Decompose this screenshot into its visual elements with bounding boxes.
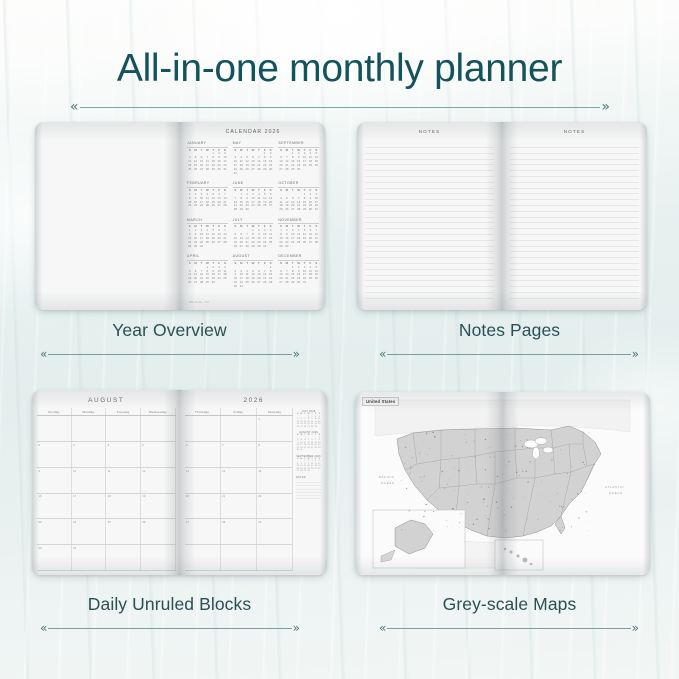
mini-day: 31: [300, 449, 304, 452]
month-label: FEBRUARY: [187, 181, 228, 185]
day-cell: 30: [308, 208, 313, 211]
month-name: AUGUST: [37, 395, 176, 408]
day-number: 20: [186, 494, 189, 498]
month-label: MAY: [233, 141, 274, 145]
mini-calendar: JULY 2026SMTWTFS 12345678910111213141516…: [296, 410, 321, 428]
day-number: 22: [258, 494, 261, 498]
week-row: 16171819: [37, 494, 176, 520]
month-days: SMTWTFS 12345678910111213141516171819202…: [233, 225, 274, 248]
day-cell: 26: [193, 168, 198, 171]
mini-calendars: JULY 2026SMTWTFS 12345678910111213141516…: [296, 410, 321, 473]
day-cell: 26: [244, 168, 249, 171]
day-number: 8: [258, 443, 260, 447]
day-cell: 30: [268, 168, 273, 171]
month-days: SMTWTFS 12345678910111213141516171819202…: [233, 189, 274, 212]
chevron-left-icon: «: [40, 348, 47, 360]
day-cell: 27: [256, 281, 261, 284]
day-cell: 31: [314, 208, 319, 211]
month-label: DECEMBER: [278, 254, 319, 258]
mini-calendar-grid: SMTWTFS 12345678910111213141516171819202…: [296, 458, 321, 473]
week-row: 23242526: [37, 519, 176, 545]
day-block[interactable]: 20: [185, 494, 221, 519]
day-cell: 30: [244, 208, 249, 211]
divider-greyscale-maps: « »: [379, 622, 639, 634]
day-cell: 26: [314, 277, 319, 280]
day-cell: 29: [290, 168, 295, 171]
chevron-right-icon: »: [601, 100, 610, 114]
day-number: 25: [108, 520, 111, 524]
weekday-header: Monday: [72, 408, 107, 415]
caption-daily-blocks: Daily Unruled Blocks: [0, 594, 339, 615]
photo-daily-blocks: AUGUST SundayMondayTuesdayWednesday 2345…: [32, 390, 327, 575]
svg-text:OCEAN: OCEAN: [609, 491, 623, 495]
day-cell: 28: [314, 241, 319, 244]
sidebar-notes-heading: NOTES: [296, 476, 321, 479]
day-number: 6: [186, 443, 188, 447]
day-cell: 28: [284, 168, 289, 171]
mini-day: 30: [307, 470, 311, 473]
divider-line: [80, 107, 601, 108]
day-block[interactable]: 18: [106, 494, 141, 519]
day-cell: 29: [302, 208, 307, 211]
month-label: SEPTEMBER: [278, 141, 319, 145]
day-block[interactable]: [106, 545, 141, 570]
mini-day: 26: [317, 468, 321, 471]
day-cell: 31: [262, 245, 267, 248]
day-block[interactable]: 15: [257, 468, 293, 493]
day-block[interactable]: 13: [185, 468, 221, 493]
mini-day: 29: [317, 447, 321, 450]
day-cell: 28: [284, 281, 289, 284]
day-cell: 29: [262, 168, 267, 171]
divider-notes-pages: « »: [379, 348, 639, 360]
day-number: 21: [222, 494, 225, 498]
day-cell: 28: [296, 208, 301, 211]
day-cell: 25: [296, 241, 301, 244]
day-block[interactable]: [141, 416, 176, 441]
ocean-label-atlantic: ATLANTIC: [605, 485, 624, 489]
day-cell: 29: [211, 168, 216, 171]
weekday-header-row: SundayMondayTuesdayWednesday: [37, 408, 176, 416]
day-cell: 29: [268, 281, 273, 284]
month-page-left: AUGUST SundayMondayTuesdayWednesday 2345…: [32, 390, 180, 575]
day-number: 14: [222, 469, 225, 473]
day-cell: 26: [284, 208, 289, 211]
day-block[interactable]: 17: [72, 494, 107, 519]
month-rule: [278, 147, 319, 148]
chevron-right-icon: »: [632, 622, 639, 634]
day-block[interactable]: 22: [257, 494, 293, 519]
month-block: FEBRUARYSMTWTFS1234567891011121314151617…: [187, 181, 228, 211]
mini-calendar: AUGUST 2026SMTWTFS 123456789101112131415…: [296, 431, 321, 452]
day-cell: 23: [193, 204, 198, 207]
day-number: 17: [73, 494, 76, 498]
week-row: 1: [185, 416, 294, 442]
day-number: 28: [222, 520, 225, 524]
day-block[interactable]: 7: [221, 442, 257, 467]
sidebar-notes-lines: [296, 480, 321, 500]
day-block[interactable]: [185, 545, 221, 570]
day-block[interactable]: [257, 545, 293, 570]
day-block[interactable]: 19: [141, 494, 176, 519]
month-sidebar: JULY 2026SMTWTFS 12345678910111213141516…: [293, 408, 323, 571]
day-number: 15: [258, 469, 261, 473]
chevron-left-icon: «: [379, 622, 386, 634]
month-days: SMTWTFS 12345678910111213141516171819202…: [233, 149, 274, 176]
day-cell: 25: [222, 277, 227, 280]
day-block[interactable]: 25: [106, 519, 141, 544]
day-cell: 27: [199, 168, 204, 171]
mini-day: 25: [317, 423, 321, 426]
divider-year-overview: « »: [40, 348, 300, 360]
week-row: 131415: [185, 468, 294, 494]
page-left-notes: NOTES: [357, 122, 502, 310]
chevron-left-icon: «: [70, 100, 79, 114]
day-cell: 27: [290, 208, 295, 211]
month-block: MAYSMTWTFS 12345678910111213141516171819…: [233, 141, 274, 175]
month-days: SMTWTFS 12345678910111213141516171819202…: [278, 149, 319, 172]
month-label: JUNE: [233, 181, 274, 185]
day-block[interactable]: 31: [72, 545, 107, 570]
day-number: 3: [73, 443, 75, 447]
month-columns: SundayMondayTuesdayWednesday 23459101112…: [37, 408, 176, 571]
ruled-lines: [365, 142, 494, 304]
day-block[interactable]: [185, 416, 221, 441]
day-cell: 28: [262, 281, 267, 284]
month-days: SMTWTFS123456789101112131415161718192021…: [187, 189, 228, 208]
month-year: 2026: [185, 395, 324, 408]
day-block[interactable]: [72, 416, 107, 441]
month-days: SMTWTFS123456789101112131415161718192021…: [278, 225, 319, 248]
weekday-header: Tuesday: [106, 408, 141, 415]
month-days: SMTWTFS123456789101112131415161718192021…: [187, 225, 228, 248]
day-number: 27: [186, 520, 189, 524]
month-rule: [187, 147, 228, 148]
caption-year-overview: Year Overview: [0, 320, 339, 341]
day-block[interactable]: 9: [37, 468, 72, 493]
day-cell: 27: [216, 241, 221, 244]
day-block[interactable]: 28: [221, 519, 257, 544]
day-block[interactable]: 29: [257, 519, 293, 544]
page-left-blank: [35, 122, 180, 310]
day-block[interactable]: 24: [72, 519, 107, 544]
day-cell: 25: [308, 164, 313, 167]
weekday-header-row: ThursdayFridaySaturday: [185, 408, 294, 416]
day-cell: 31: [302, 281, 307, 284]
day-cell: 27: [216, 204, 221, 207]
page-left-month: AUGUST SundayMondayTuesdayWednesday 2345…: [32, 390, 180, 575]
day-cell: 26: [314, 164, 319, 167]
chevron-left-icon: «: [379, 348, 386, 360]
day-cell: 29: [239, 208, 244, 211]
month-grid-left: SundayMondayTuesdayWednesday 23459101112…: [37, 408, 176, 571]
day-cell: 25: [308, 277, 313, 280]
day-block[interactable]: 10: [72, 468, 107, 493]
week-row: 3031: [37, 545, 176, 571]
weekday-header: Wednesday: [141, 408, 176, 415]
day-cell: 26: [211, 204, 216, 207]
month-label: MARCH: [187, 218, 228, 222]
day-number: 7: [222, 443, 224, 447]
day-cell: 29: [187, 245, 192, 248]
weekday-header: Thursday: [185, 408, 221, 415]
day-number: 29: [258, 520, 261, 524]
day-number: 9: [38, 469, 40, 473]
day-number: 2: [38, 443, 40, 447]
week-row: [37, 416, 176, 442]
month-days: SMTWTFS 12345678910111213141516171819202…: [278, 189, 319, 212]
day-block[interactable]: 5: [141, 442, 176, 467]
day-cell: 26: [250, 281, 255, 284]
day-number: 19: [142, 494, 145, 498]
day-cell: 26: [302, 241, 307, 244]
mini-day: 31: [314, 426, 318, 429]
day-block[interactable]: [37, 416, 72, 441]
open-planner-book: United States: [355, 392, 650, 575]
month-label: APRIL: [187, 254, 228, 258]
chevron-right-icon: »: [293, 348, 300, 360]
day-number: 12: [142, 469, 145, 473]
day-cell: 28: [199, 281, 204, 284]
open-planner-book: NOTES NOTES: [357, 122, 647, 310]
day-number: 13: [186, 469, 189, 473]
mini-calendar: SEPTEMBER 2026SMTWTFS 123456789101112131…: [296, 455, 321, 473]
day-number: 24: [73, 520, 76, 524]
month-block: DECEMBERSMTWTFS 123456789101112131415161…: [278, 254, 319, 288]
ocean-label-pacific: PACIFIC: [379, 475, 395, 479]
month-label: OCTOBER: [278, 181, 319, 185]
week-row: [185, 545, 294, 571]
day-block[interactable]: [221, 545, 257, 570]
month-block: APRILSMTWTFS 123456789101112131415161718…: [187, 254, 228, 288]
divider-daily-blocks: « »: [40, 622, 300, 634]
day-cell: 25: [205, 241, 210, 244]
day-number: 23: [38, 520, 41, 524]
month-label: JANUARY: [187, 141, 228, 145]
page-right-notes: NOTES: [502, 122, 647, 310]
day-cell: 27: [239, 245, 244, 248]
day-block[interactable]: [221, 416, 257, 441]
day-cell: 29: [250, 245, 255, 248]
week-row: 272829: [185, 519, 294, 545]
month-block: NOVEMBERSMTWTFS1234567891011121314151617…: [278, 218, 319, 248]
day-cell: 31: [199, 245, 204, 248]
weekday-header: Friday: [221, 408, 257, 415]
day-number: 31: [73, 546, 76, 550]
month-block: JUNESMTWTFS 1234567891011121314151617181…: [233, 181, 274, 211]
month-block: AUGUSTSMTWTFS 12345678910111213141516171…: [233, 254, 274, 288]
divider-line: [48, 628, 291, 629]
day-cell: 22: [187, 204, 192, 207]
day-cell: 29: [278, 245, 283, 248]
day-number: 18: [108, 494, 111, 498]
month-rule: [233, 147, 274, 148]
day-cell: 24: [216, 277, 221, 280]
day-cell: 29: [290, 281, 295, 284]
chevron-left-icon: «: [40, 622, 47, 634]
day-number: 10: [73, 469, 76, 473]
day-cell: 30: [296, 168, 301, 171]
us-map: United States: [355, 392, 650, 575]
month-grid-right: ThursdayFridaySaturday 16781314152021222…: [185, 408, 324, 571]
day-cell: 27: [193, 281, 198, 284]
day-cell: 31: [222, 168, 227, 171]
day-cell: 28: [222, 204, 227, 207]
day-cell: 28: [233, 208, 238, 211]
day-block[interactable]: [106, 416, 141, 441]
day-cell: 27: [268, 204, 273, 207]
day-cell: 27: [278, 168, 283, 171]
month-block: MARCHSMTWTFS1234567891011121314151617181…: [187, 218, 228, 248]
photo-notes-pages: NOTES NOTES: [357, 122, 647, 310]
caption-greyscale-maps: Grey-scale Maps: [340, 594, 679, 615]
day-block[interactable]: 14: [221, 468, 257, 493]
month-days: SMTWTFS 12345678910111213141516171819202…: [233, 262, 274, 289]
map-graphic: PACIFIC OCEAN ATLANTIC OCEAN: [355, 392, 650, 575]
day-block[interactable]: 21: [221, 494, 257, 519]
day-cell: 30: [233, 285, 238, 288]
day-block[interactable]: 12: [141, 468, 176, 493]
page-right-month: 2026 ThursdayFridaySaturday 167813141520…: [180, 390, 328, 575]
day-block[interactable]: 1: [257, 416, 293, 441]
year-calendar-grid: JANUARYSMTWTFS 1234567891011121314151617…: [187, 141, 319, 289]
day-cell: 25: [205, 204, 210, 207]
day-block[interactable]: 26: [141, 519, 176, 544]
day-number: 4: [108, 443, 110, 447]
ruled-lines: [510, 142, 639, 304]
day-block[interactable]: 8: [257, 442, 293, 467]
mini-calendar-grid: SMTWTFS 12345678910111213141516171819202…: [296, 413, 321, 428]
photo-year-overview: CALENDAR 2026 JANUARYSMTWTFS 12345678910…: [35, 122, 325, 310]
day-block[interactable]: [141, 545, 176, 570]
month-block: OCTOBERSMTWTFS 1234567891011121314151617…: [278, 181, 319, 211]
day-cell: 30: [284, 245, 289, 248]
month-days: SMTWTFS 12345678910111213141516171819202…: [278, 262, 319, 285]
day-cell: 24: [302, 164, 307, 167]
map-title: United States: [362, 397, 399, 406]
day-cell: 30: [256, 245, 261, 248]
day-cell: 29: [205, 281, 210, 284]
month-block: JULYSMTWTFS 1234567891011121314151617181…: [233, 218, 274, 248]
day-block[interactable]: 27: [185, 519, 221, 544]
day-block[interactable]: 6: [185, 442, 221, 467]
day-cell: 31: [239, 285, 244, 288]
day-cell: 25: [278, 208, 283, 211]
week-row: 9101112: [37, 468, 176, 494]
page-fineprint: OR MI-HI, CN: [189, 301, 209, 304]
day-cell: 27: [250, 168, 255, 171]
calendar-year-title: CALENDAR 2026: [187, 129, 319, 135]
chevron-right-icon: »: [293, 622, 300, 634]
day-number: 1: [258, 417, 260, 421]
month-page-right: 2026 ThursdayFridaySaturday 167813141520…: [180, 390, 328, 575]
day-cell: 26: [262, 204, 267, 207]
month-label: AUGUST: [233, 254, 274, 258]
notes-heading: NOTES: [366, 129, 493, 134]
day-cell: 30: [296, 281, 301, 284]
month-label: NOVEMBER: [278, 218, 319, 222]
day-cell: 28: [222, 241, 227, 244]
day-cell: 25: [187, 168, 192, 171]
day-cell: 25: [256, 204, 261, 207]
day-cell: 27: [278, 281, 283, 284]
day-cell: 28: [244, 245, 249, 248]
day-cell: 28: [256, 168, 261, 171]
day-block[interactable]: 2: [37, 442, 72, 467]
day-cell: 27: [308, 241, 313, 244]
day-block[interactable]: 3: [72, 442, 107, 467]
page-right-calendar: CALENDAR 2026 JANUARYSMTWTFS 12345678910…: [180, 122, 325, 310]
hero-divider: « »: [70, 101, 610, 113]
week-rows: 1678131415202122272829: [185, 416, 294, 571]
month-days: SMTWTFS 12345678910111213141516171819202…: [187, 149, 228, 172]
svg-text:OCEAN: OCEAN: [381, 481, 395, 485]
year-calendar-page: CALENDAR 2026 JANUARYSMTWTFS 12345678910…: [180, 122, 325, 310]
divider-line: [387, 628, 630, 629]
chevron-right-icon: »: [632, 348, 639, 360]
day-number: 30: [38, 546, 41, 550]
month-days: SMTWTFS 12345678910111213141516171819202…: [187, 262, 228, 285]
day-cell: 26: [233, 245, 238, 248]
day-cell: 24: [250, 204, 255, 207]
divider-line: [48, 354, 291, 355]
month-columns: ThursdayFridaySaturday 16781314152021222…: [185, 408, 294, 571]
caption-notes-pages: Notes Pages: [340, 320, 679, 341]
photo-greyscale-map: United States: [355, 392, 650, 575]
day-cell: 26: [187, 281, 192, 284]
day-cell: 28: [205, 168, 210, 171]
day-number: 11: [108, 469, 111, 473]
mini-calendar-grid: SMTWTFS 12345678910111213141516171819202…: [296, 434, 321, 452]
open-planner-book: AUGUST SundayMondayTuesdayWednesday 2345…: [32, 390, 327, 575]
open-planner-book: CALENDAR 2026 JANUARYSMTWTFS 12345678910…: [35, 122, 325, 310]
day-number: 16: [38, 494, 41, 498]
day-block[interactable]: 16: [37, 494, 72, 519]
day-block[interactable]: 4: [106, 442, 141, 467]
day-cell: 24: [199, 204, 204, 207]
day-cell: 26: [211, 241, 216, 244]
month-block: JANUARYSMTWTFS 1234567891011121314151617…: [187, 141, 228, 175]
day-cell: 24: [290, 241, 295, 244]
notes-heading: NOTES: [511, 129, 638, 134]
weekday-header: Saturday: [257, 408, 293, 415]
day-cell: 30: [216, 168, 221, 171]
week-row: 202122: [185, 494, 294, 520]
day-cell: 25: [268, 241, 273, 244]
day-block[interactable]: 23: [37, 519, 72, 544]
day-cell: 30: [193, 245, 198, 248]
week-row: 678: [185, 442, 294, 468]
day-cell: 30: [211, 281, 216, 284]
day-block[interactable]: 30: [37, 545, 72, 570]
month-block: SEPTEMBERSMTWTFS 12345678910111213141516…: [278, 141, 319, 175]
month-label: JULY: [233, 218, 274, 222]
day-cell: 31: [233, 172, 238, 175]
day-cell: 25: [239, 168, 244, 171]
week-rows: 2345910111216171819232425263031: [37, 416, 176, 571]
divider-line: [387, 354, 630, 355]
infographic-page: All-in-one monthly planner « » CALENDAR …: [0, 0, 679, 679]
weekday-header: Sunday: [37, 408, 72, 415]
day-number: 5: [142, 443, 144, 447]
day-number: 26: [142, 520, 145, 524]
page-title: All-in-one monthly planner: [0, 47, 679, 91]
day-cell: 25: [244, 281, 249, 284]
day-block[interactable]: 11: [106, 468, 141, 493]
week-row: 2345: [37, 442, 176, 468]
